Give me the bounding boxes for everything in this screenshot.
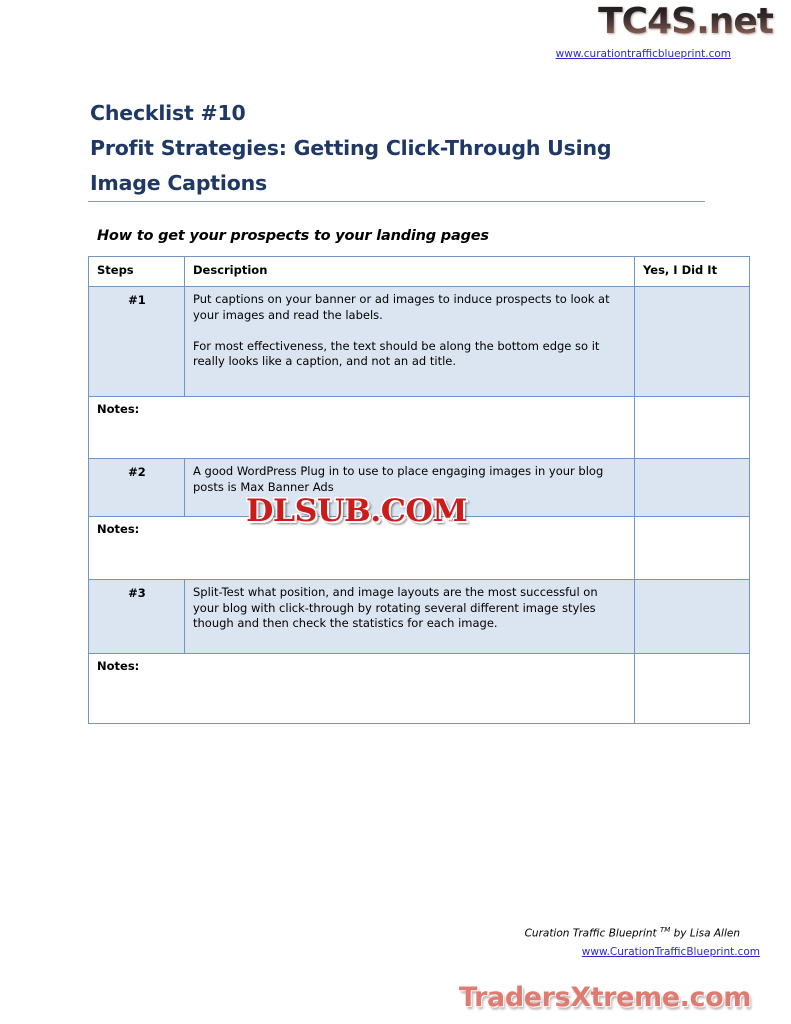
document-page: TC4S.net www.curationtrafficblueprint.co… — [0, 0, 791, 1024]
footer-credit-prefix: Curation Traffic Blueprint — [525, 928, 660, 940]
yes-i-did-it-checkbox-cell[interactable] — [635, 517, 750, 580]
header-website-link[interactable]: www.curationtrafficblueprint.com — [556, 48, 731, 60]
title-line-3: Image Captions — [90, 166, 705, 201]
title-line-2: Profit Strategies: Getting Click-Through… — [90, 131, 705, 166]
trademark-symbol: TM — [660, 926, 670, 934]
step-number: #3 — [89, 580, 185, 654]
yes-i-did-it-checkbox-cell[interactable] — [635, 654, 750, 724]
column-header-description: Description — [185, 257, 635, 287]
footer: Curation Traffic Blueprint TM by Lisa Al… — [0, 922, 740, 960]
step-description: Put captions on your banner or ad images… — [185, 287, 635, 397]
dlsub-watermark: DLSUB.COM — [246, 496, 467, 527]
page-title: Checklist #10 Profit Strategies: Getting… — [90, 96, 705, 201]
tc4s-logo-watermark: TC4S.net — [598, 2, 773, 42]
title-line-1: Checklist #10 — [90, 96, 705, 131]
notes-label[interactable]: Notes: — [89, 397, 635, 459]
yes-i-did-it-checkbox-cell[interactable] — [635, 287, 750, 397]
checklist-table: Steps Description Yes, I Did It #1 Put c… — [88, 256, 750, 724]
table-row: Notes: — [89, 654, 750, 724]
footer-website-link[interactable]: www.CurationTrafficBlueprint.com — [0, 944, 760, 960]
yes-i-did-it-checkbox-cell[interactable] — [635, 580, 750, 654]
table-row: Notes: — [89, 397, 750, 459]
column-header-steps: Steps — [89, 257, 185, 287]
step-paragraph: A good WordPress Plug in to use to place… — [193, 464, 627, 495]
tradersxtreme-watermark: TradersXtreme.com — [459, 983, 751, 1013]
yes-i-did-it-checkbox-cell[interactable] — [635, 459, 750, 517]
step-paragraph: For most effectiveness, the text should … — [193, 339, 627, 370]
table-header-row: Steps Description Yes, I Did It — [89, 257, 750, 287]
footer-credit: Curation Traffic Blueprint TM by Lisa Al… — [0, 922, 740, 942]
step-paragraph: Put captions on your banner or ad images… — [193, 292, 627, 323]
step-number: #2 — [89, 459, 185, 517]
step-description: Split-Test what position, and image layo… — [185, 580, 635, 654]
yes-i-did-it-checkbox-cell[interactable] — [635, 397, 750, 459]
step-number: #1 — [89, 287, 185, 397]
subtitle: How to get your prospects to your landin… — [97, 228, 489, 244]
title-divider — [88, 201, 705, 202]
notes-label[interactable]: Notes: — [89, 654, 635, 724]
table-row: #3 Split-Test what position, and image l… — [89, 580, 750, 654]
column-header-yes: Yes, I Did It — [635, 257, 750, 287]
dlsub-watermark-text: DLSUB.COM — [246, 493, 467, 529]
step-paragraph: Split-Test what position, and image layo… — [193, 585, 627, 632]
table-row: #1 Put captions on your banner or ad ima… — [89, 287, 750, 397]
footer-credit-suffix: by Lisa Allen — [670, 928, 740, 940]
